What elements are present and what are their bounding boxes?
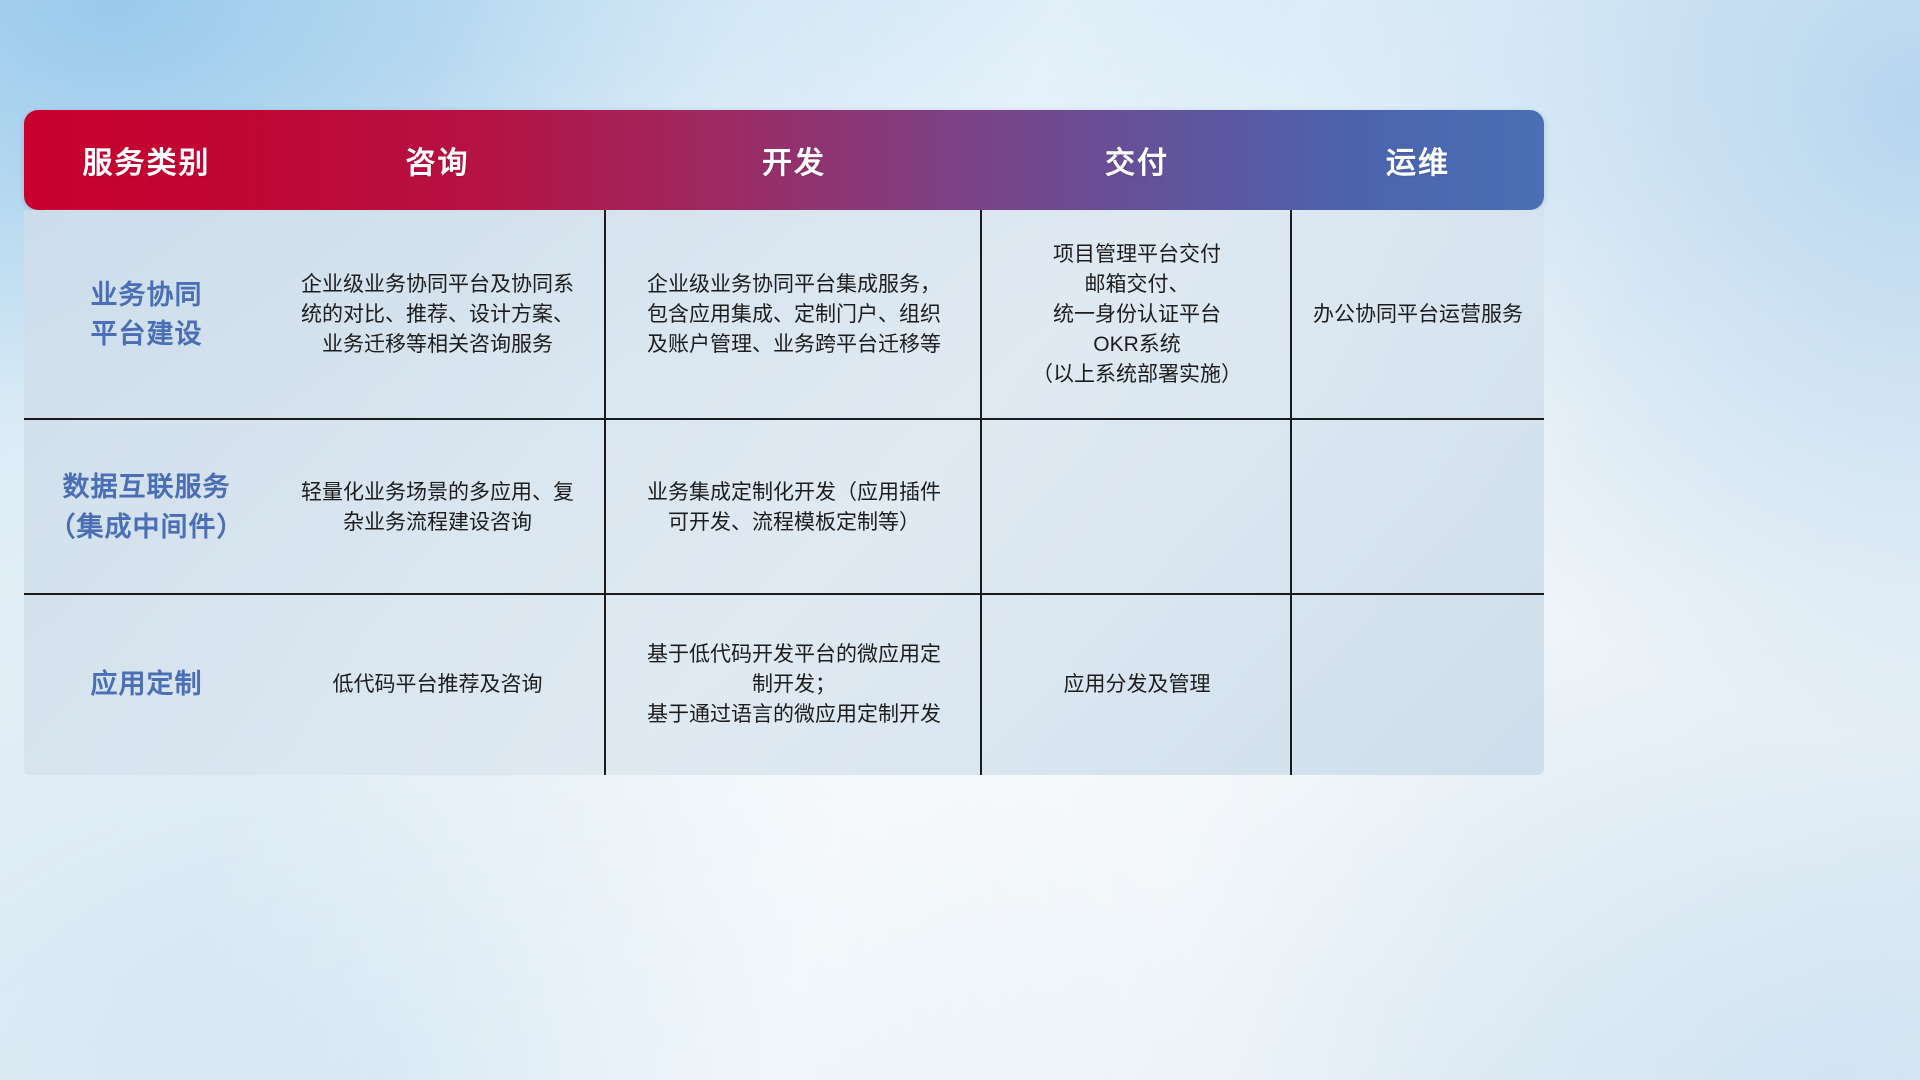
column-header-delivery: 交付 bbox=[982, 110, 1292, 210]
cell-consulting: 企业级业务协同平台及协同系 统的对比、推荐、设计方案、 业务迁移等相关咨询服务 bbox=[269, 210, 606, 420]
cell-consulting: 轻量化业务场景的多应用、复 杂业务流程建设咨询 bbox=[269, 420, 606, 595]
column-header-operations: 运维 bbox=[1292, 110, 1544, 210]
row-label-app-customization: 应用定制 bbox=[91, 665, 203, 704]
row-category-cell: 数据互联服务 （集成中间件） bbox=[24, 420, 269, 595]
column-header-category: 服务类别 bbox=[24, 110, 269, 210]
cell-operations bbox=[1292, 420, 1544, 595]
cell-operations: 办公协同平台运营服务 bbox=[1292, 210, 1544, 420]
cell-delivery: 应用分发及管理 bbox=[982, 595, 1292, 775]
table-header-row: 服务类别 咨询 开发 交付 运维 bbox=[24, 110, 1544, 210]
cell-development: 基于低代码开发平台的微应用定 制开发； 基于通过语言的微应用定制开发 bbox=[606, 595, 982, 775]
cell-development: 业务集成定制化开发（应用插件 可开发、流程模板定制等） bbox=[606, 420, 982, 595]
table-row: 应用定制 低代码平台推荐及咨询 基于低代码开发平台的微应用定 制开发； 基于通过… bbox=[24, 595, 1544, 775]
service-matrix-table: 服务类别 咨询 开发 交付 运维 业务协同 平台建设 企业级业务协同平台及协同系… bbox=[24, 110, 1544, 775]
row-category-cell: 应用定制 bbox=[24, 595, 269, 775]
row-label-business-collaboration: 业务协同 平台建设 bbox=[91, 276, 203, 354]
cell-operations bbox=[1292, 595, 1544, 775]
table-body: 业务协同 平台建设 企业级业务协同平台及协同系 统的对比、推荐、设计方案、 业务… bbox=[24, 210, 1544, 775]
column-header-development: 开发 bbox=[606, 110, 982, 210]
row-label-data-integration: 数据互联服务 （集成中间件） bbox=[49, 468, 245, 546]
table-row: 数据互联服务 （集成中间件） 轻量化业务场景的多应用、复 杂业务流程建设咨询 业… bbox=[24, 420, 1544, 595]
cell-delivery: 项目管理平台交付 邮箱交付、 统一身份认证平台 OKR系统 （以上系统部署实施） bbox=[982, 210, 1292, 420]
cell-development: 企业级业务协同平台集成服务， 包含应用集成、定制门户、组织 及账户管理、业务跨平… bbox=[606, 210, 982, 420]
row-category-cell: 业务协同 平台建设 bbox=[24, 210, 269, 420]
cell-delivery bbox=[982, 420, 1292, 595]
table-row: 业务协同 平台建设 企业级业务协同平台及协同系 统的对比、推荐、设计方案、 业务… bbox=[24, 210, 1544, 420]
cell-consulting: 低代码平台推荐及咨询 bbox=[269, 595, 606, 775]
column-header-consulting: 咨询 bbox=[269, 110, 606, 210]
